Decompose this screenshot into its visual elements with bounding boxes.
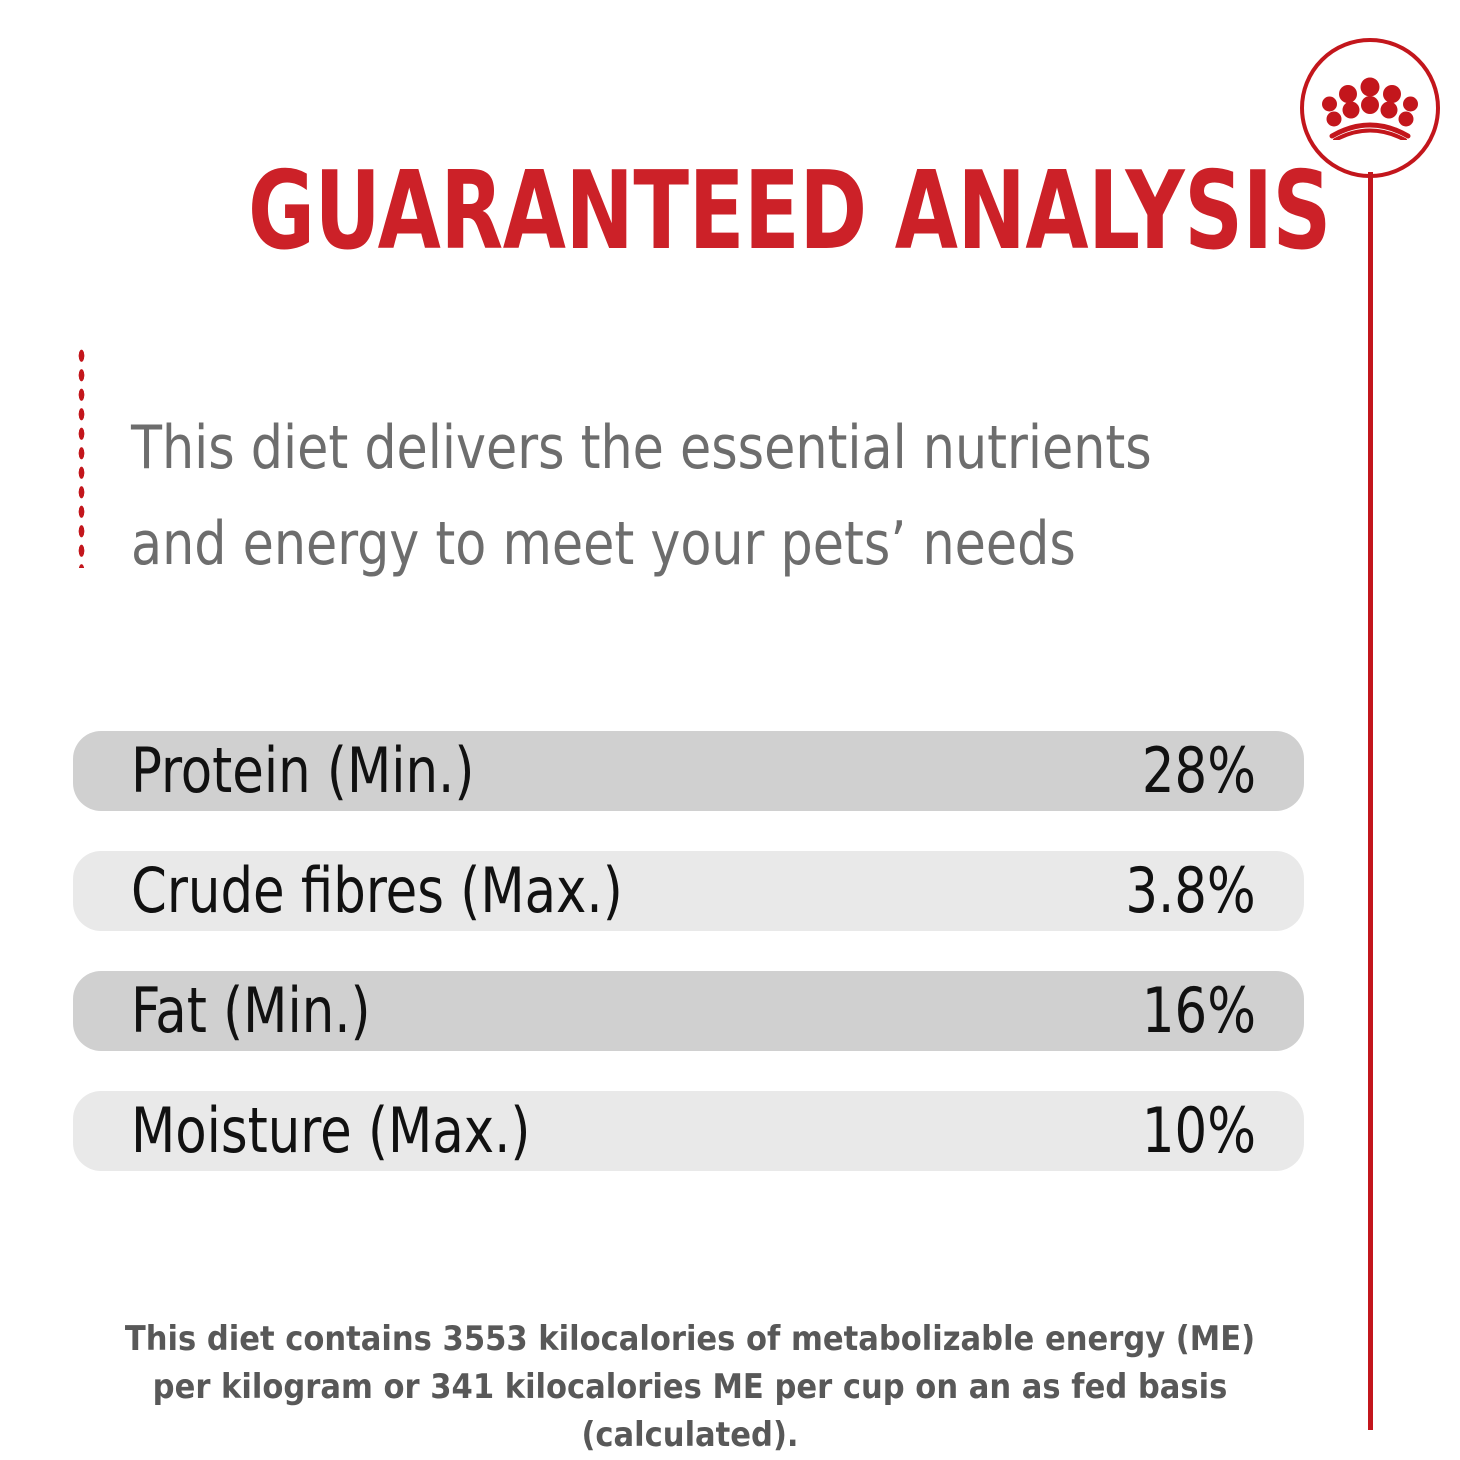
- table-row: Protein (Min.) 28%: [73, 731, 1304, 811]
- logo-stem-line: [1368, 172, 1373, 1430]
- table-row: Fat (Min.) 16%: [73, 971, 1304, 1051]
- nutrient-value: 16%: [1142, 980, 1256, 1042]
- nutrient-value: 28%: [1142, 740, 1256, 802]
- page-title: GUARANTEED ANALYSIS: [248, 156, 1331, 268]
- table-row: Moisture (Max.) 10%: [73, 1091, 1304, 1171]
- intro-block: This diet delivers the essential nutrien…: [73, 346, 1303, 576]
- nutrient-label: Moisture (Max.): [131, 1100, 530, 1162]
- nutrient-value: 10%: [1142, 1100, 1256, 1162]
- guaranteed-analysis-panel: GUARANTEED ANALYSIS This diet delivers t…: [0, 0, 1460, 1460]
- nutrient-label: Fat (Min.): [131, 980, 371, 1042]
- nutrient-label: Crude fibres (Max.): [131, 860, 623, 922]
- table-row: Crude fibres (Max.) 3.8%: [73, 851, 1304, 931]
- dotted-divider-icon: [77, 346, 86, 568]
- guaranteed-analysis-table: Protein (Min.) 28% Crude fibres (Max.) 3…: [73, 731, 1304, 1211]
- nutrient-label: Protein (Min.): [131, 740, 474, 802]
- energy-footnote: This diet contains 3553 kilocalories of …: [100, 1315, 1280, 1459]
- nutrient-value: 3.8%: [1126, 860, 1256, 922]
- intro-text: This diet delivers the essential nutrien…: [131, 400, 1240, 592]
- crown-icon: [1322, 74, 1418, 140]
